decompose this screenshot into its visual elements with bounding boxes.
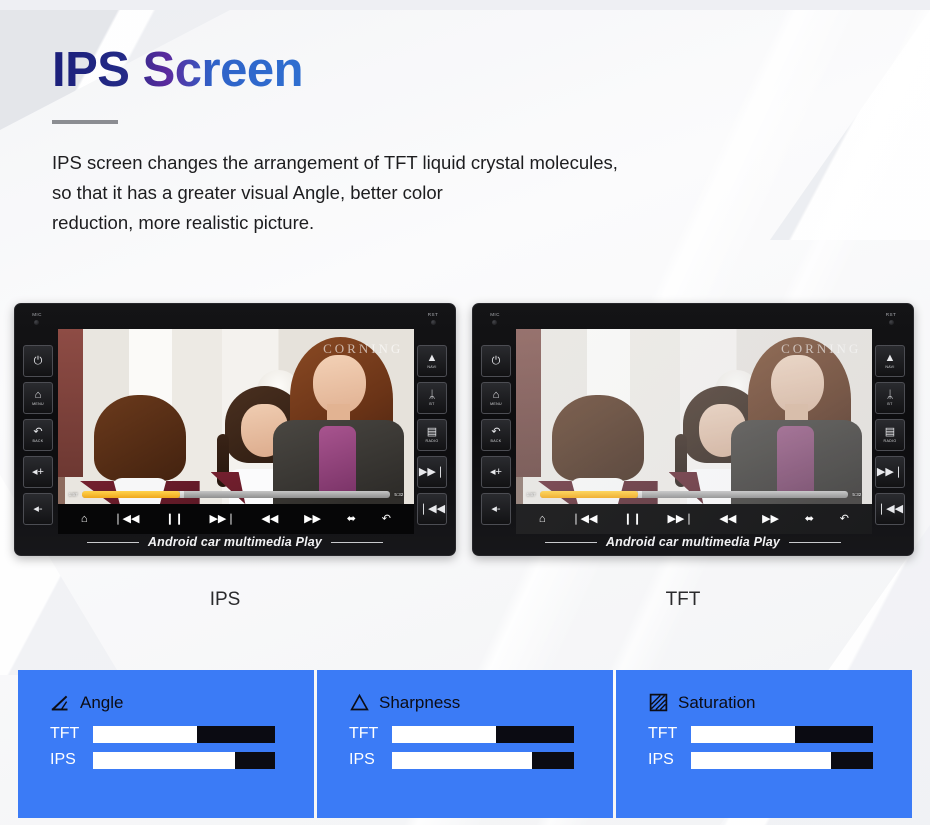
metric-track — [691, 726, 873, 743]
progress-fill — [540, 491, 639, 498]
left-key-column: ⏻ ⌂MENU ↶BACK ◂+ ◂- — [481, 345, 511, 525]
metric-label: IPS — [648, 751, 682, 769]
rewind-icon[interactable]: ◀◀ — [261, 514, 278, 525]
power-icon: ⏻ — [34, 356, 43, 367]
reset-hole-icon — [889, 320, 894, 325]
progress-area[interactable]: 1:57 5:32 — [527, 490, 862, 499]
progress-bar[interactable] — [540, 491, 849, 498]
panel-sharpness: Sharpness TFT IPS — [317, 670, 613, 818]
volume-up-button[interactable]: ◂+ — [23, 456, 53, 488]
device-screen[interactable]: CORNING 1:57 5:32 ⌂ ❘◀◀ ❙❙ ▶▶❘ ◀◀ ▶▶ ⬌ ↶ — [516, 329, 872, 534]
bluetooth-button[interactable]: ᛦBT — [417, 382, 447, 414]
menu-label: MENU — [490, 402, 502, 406]
panel-angle: Angle TFT IPS — [18, 670, 314, 818]
panel-title: Sharpness — [379, 693, 460, 713]
next-track-button[interactable]: ▶▶❘ — [417, 456, 447, 488]
paragraph-line: so that it has a greater visual Angle, b… — [52, 178, 752, 208]
back-label: BACK — [33, 439, 44, 443]
panel-header: Sharpness — [349, 692, 589, 713]
caption-ips: IPS — [165, 589, 285, 611]
navigation-icon: ▲ — [427, 353, 438, 364]
prev-track-icon: ❘◀◀ — [877, 504, 903, 515]
elapsed-time: 1:57 — [69, 492, 78, 497]
intro-paragraph: IPS screen changes the arrangement of TF… — [52, 148, 752, 238]
menu-button[interactable]: ⌂MENU — [23, 382, 53, 414]
back-label: BACK — [491, 439, 502, 443]
progress-bar[interactable] — [82, 491, 391, 498]
scene-red-panel — [58, 329, 83, 477]
media-control-bar: ⌂ ❘◀◀ ❙❙ ▶▶❘ ◀◀ ▶▶ ⬌ ↶ — [58, 504, 414, 534]
screen-watermark: CORNING — [323, 341, 403, 357]
previous-icon[interactable]: ❘◀◀ — [571, 514, 597, 525]
brand-rule-left — [545, 542, 597, 543]
power-icon: ⏻ — [492, 356, 501, 367]
fast-forward-icon[interactable]: ▶▶ — [304, 514, 321, 525]
progress-area[interactable]: 1:57 5:32 — [69, 490, 404, 499]
metric-fill — [392, 752, 532, 769]
title-underline-rule — [52, 120, 118, 124]
metric-track — [392, 752, 574, 769]
reset-label: RST — [421, 312, 445, 317]
home-icon: ⌂ — [493, 390, 500, 401]
return-icon[interactable]: ↶ — [840, 514, 849, 525]
reset-hole-icon — [431, 320, 436, 325]
panel-title: Saturation — [678, 693, 756, 713]
radio-button[interactable]: ▤RADIO — [417, 419, 447, 451]
fullscreen-icon[interactable]: ⬌ — [347, 514, 356, 525]
radio-label: RADIO — [426, 439, 439, 443]
metric-label: TFT — [50, 725, 84, 743]
panel-title: Angle — [80, 693, 123, 713]
angle-icon — [50, 692, 71, 713]
bluetooth-button[interactable]: ᛦBT — [875, 382, 905, 414]
panel-saturation: Saturation TFT IPS — [616, 670, 912, 818]
volume-down-button[interactable]: ◂- — [481, 493, 511, 525]
metric-fill — [93, 726, 197, 743]
progress-fill — [82, 491, 181, 498]
home-icon[interactable]: ⌂ — [539, 514, 546, 525]
return-icon[interactable]: ↶ — [382, 514, 391, 525]
panel-header: Angle — [50, 692, 290, 713]
brand-rule-left — [87, 542, 139, 543]
device-tft: MIC RST ⏻ ⌂MENU ↶BACK ◂+ ◂- ▲NAVI ᛦBT ▤R… — [472, 303, 914, 556]
device-screen[interactable]: CORNING 1:57 5:32 ⌂ ❘◀◀ ❙❙ ▶▶❘ ◀◀ ▶▶ ⬌ ↶ — [58, 329, 414, 534]
device-brand-strip: Android car multimedia Play — [473, 535, 913, 549]
metric-label: IPS — [349, 751, 383, 769]
elapsed-time: 1:57 — [527, 492, 536, 497]
prev-track-button[interactable]: ❘◀◀ — [417, 493, 447, 525]
navi-button[interactable]: ▲NAVI — [417, 345, 447, 377]
metric-row: TFT — [648, 725, 888, 743]
brand-rule-right — [789, 542, 841, 543]
back-icon: ↶ — [33, 427, 42, 438]
menu-button[interactable]: ⌂MENU — [481, 382, 511, 414]
fast-forward-icon[interactable]: ▶▶ — [762, 514, 779, 525]
page-background: IPS Screen IPS screen changes the arrang… — [0, 0, 930, 825]
total-time: 5:32 — [852, 492, 861, 497]
reset-label: RST — [879, 312, 903, 317]
device-ips: MIC RST ⏻ ⌂MENU ↶BACK ◂+ ◂- ▲NAVI ᛦBT ▤R… — [14, 303, 456, 556]
mic-label: MIC — [25, 312, 49, 317]
scene-red-panel — [516, 329, 541, 477]
brand-rule-right — [331, 542, 383, 543]
radio-button[interactable]: ▤RADIO — [875, 419, 905, 451]
pause-icon[interactable]: ❙❙ — [165, 514, 183, 525]
pause-icon[interactable]: ❙❙ — [623, 514, 641, 525]
rewind-icon[interactable]: ◀◀ — [719, 514, 736, 525]
metric-label: TFT — [648, 725, 682, 743]
bluetooth-icon: ᛦ — [429, 390, 436, 401]
power-button[interactable]: ⏻ — [23, 345, 53, 377]
page-title: IPS Screen — [52, 42, 303, 98]
navi-button[interactable]: ▲NAVI — [875, 345, 905, 377]
prev-track-button[interactable]: ❘◀◀ — [875, 493, 905, 525]
metric-fill — [93, 752, 235, 769]
mic-label: MIC — [483, 312, 507, 317]
previous-icon[interactable]: ❘◀◀ — [113, 514, 139, 525]
volume-up-icon: ◂+ — [32, 467, 44, 478]
metric-row: TFT — [50, 725, 290, 743]
next-icon[interactable]: ▶▶❘ — [667, 514, 693, 525]
next-icon[interactable]: ▶▶❘ — [209, 514, 235, 525]
metric-fill — [392, 726, 496, 743]
navi-label: NAVI — [885, 365, 894, 369]
radio-icon: ▤ — [885, 427, 895, 438]
metric-track — [93, 726, 275, 743]
volume-down-icon: ◂- — [491, 504, 500, 515]
metric-fill — [691, 752, 831, 769]
caption-tft: TFT — [623, 589, 743, 611]
radio-label: RADIO — [884, 439, 897, 443]
navi-label: NAVI — [427, 365, 436, 369]
metric-row: TFT — [349, 725, 589, 743]
volume-up-icon: ◂+ — [490, 467, 502, 478]
power-button[interactable]: ⏻ — [481, 345, 511, 377]
home-icon[interactable]: ⌂ — [81, 514, 88, 525]
metric-label: IPS — [50, 751, 84, 769]
back-icon: ↶ — [491, 427, 500, 438]
bluetooth-icon: ᛦ — [887, 390, 894, 401]
metric-row: IPS — [648, 751, 888, 769]
screen-watermark: CORNING — [781, 341, 861, 357]
navigation-icon: ▲ — [885, 353, 896, 364]
media-control-bar: ⌂ ❘◀◀ ❙❙ ▶▶❘ ◀◀ ▶▶ ⬌ ↶ — [516, 504, 872, 534]
next-track-button[interactable]: ▶▶❘ — [875, 456, 905, 488]
metric-row: IPS — [349, 751, 589, 769]
bt-label: BT — [429, 402, 434, 406]
metric-row: IPS — [50, 751, 290, 769]
prev-track-icon: ❘◀◀ — [419, 504, 445, 515]
progress-knob[interactable] — [638, 491, 642, 498]
volume-down-button[interactable]: ◂- — [23, 493, 53, 525]
radio-icon: ▤ — [427, 427, 437, 438]
metric-fill — [691, 726, 795, 743]
brand-text: Android car multimedia Play — [148, 535, 322, 549]
home-icon: ⌂ — [35, 390, 42, 401]
progress-knob[interactable] — [180, 491, 184, 498]
paragraph-line: reduction, more realistic picture. — [52, 208, 752, 238]
mic-hole-icon — [492, 320, 497, 325]
next-track-icon: ▶▶❘ — [419, 467, 445, 478]
fullscreen-icon[interactable]: ⬌ — [805, 514, 814, 525]
back-button[interactable]: ↶BACK — [23, 419, 53, 451]
next-track-icon: ▶▶❘ — [877, 467, 903, 478]
paragraph-line: IPS screen changes the arrangement of TF… — [52, 148, 752, 178]
mic-hole-icon — [34, 320, 39, 325]
triangle-icon — [349, 692, 370, 713]
total-time: 5:32 — [394, 492, 403, 497]
metric-label: TFT — [349, 725, 383, 743]
left-key-column: ⏻ ⌂MENU ↶BACK ◂+ ◂- — [23, 345, 53, 525]
device-brand-strip: Android car multimedia Play — [15, 535, 455, 549]
decorative-diagonal-top-right — [730, 10, 930, 240]
right-key-column: ▲NAVI ᛦBT ▤RADIO ▶▶❘ ❘◀◀ — [417, 345, 447, 525]
volume-down-icon: ◂- — [33, 504, 42, 515]
bt-label: BT — [887, 402, 892, 406]
metric-track — [691, 752, 873, 769]
right-key-column: ▲NAVI ᛦBT ▤RADIO ▶▶❘ ❘◀◀ — [875, 345, 905, 525]
metric-track — [93, 752, 275, 769]
top-strip — [0, 0, 930, 10]
back-button[interactable]: ↶BACK — [481, 419, 511, 451]
volume-up-button[interactable]: ◂+ — [481, 456, 511, 488]
panel-header: Saturation — [648, 692, 888, 713]
menu-label: MENU — [32, 402, 44, 406]
brand-text: Android car multimedia Play — [606, 535, 780, 549]
hatched-square-icon — [648, 692, 669, 713]
comparison-panels: Angle TFT IPS Sharpness — [18, 670, 912, 818]
metric-track — [392, 726, 574, 743]
